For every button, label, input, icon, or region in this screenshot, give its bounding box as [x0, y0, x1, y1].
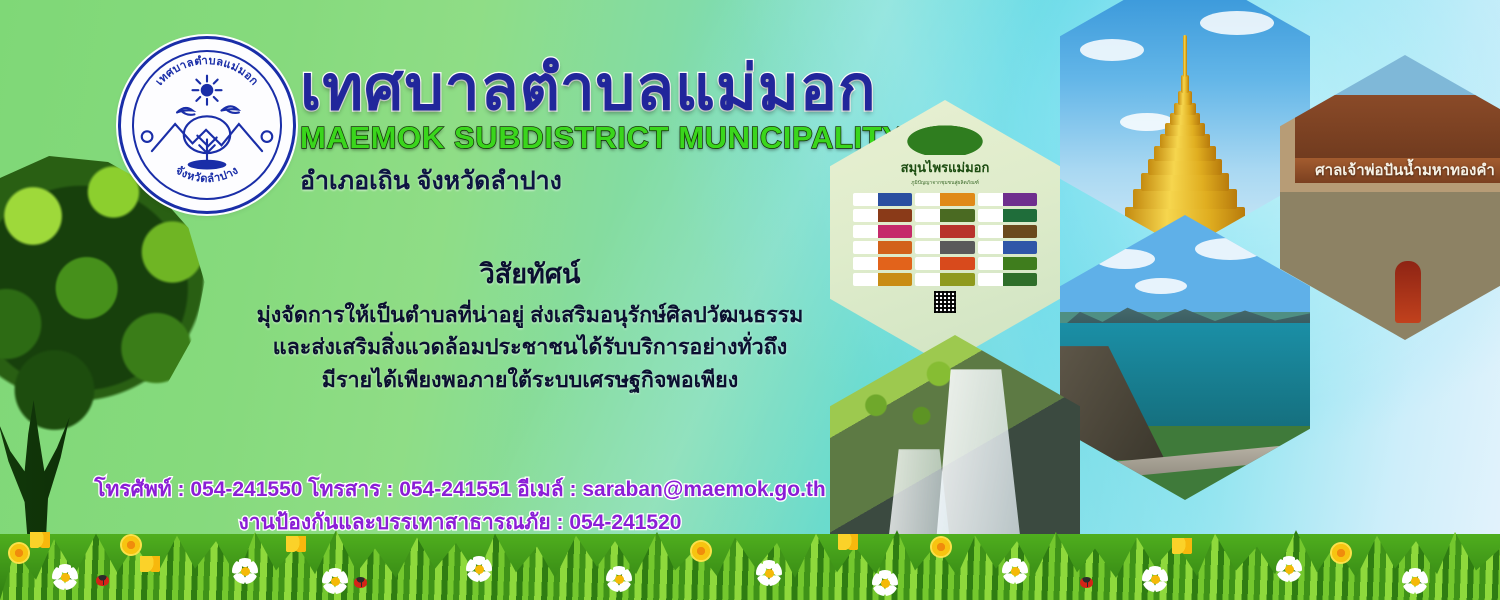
daisy-flower-icon — [322, 568, 348, 594]
butterfly-icon — [30, 532, 50, 548]
product-chip — [853, 273, 912, 286]
cloud-icon — [1135, 278, 1187, 294]
shrine-idol-icon — [1395, 261, 1421, 323]
ground-icon — [188, 160, 227, 170]
municipality-seal-logo: เทศบาลตำบลแม่มอก จังหวัดลำปาง — [118, 36, 296, 214]
seal-artwork: เทศบาลตำบลแม่มอก จังหวัดลำปาง — [121, 39, 293, 211]
product-chip — [978, 273, 1037, 286]
vision-heading: วิสัยทัศน์ — [190, 252, 870, 295]
photo-hex-reservoir-dam[interactable] — [1060, 215, 1310, 500]
grass-border — [0, 504, 1500, 600]
yellow-flower-icon — [8, 542, 30, 564]
product-chip — [853, 257, 912, 270]
butterfly-icon — [140, 556, 160, 572]
photo-hex-herbs-poster[interactable]: สมุนไพรแม่มอก ภูมิปัญญาจากชุมชนสู่ผลิตภั… — [830, 100, 1060, 365]
daisy-flower-icon — [606, 566, 632, 592]
daisy-flower-icon — [1002, 558, 1028, 584]
product-chip — [853, 225, 912, 238]
qr-code-icon[interactable] — [934, 291, 956, 313]
butterfly-icon — [1172, 538, 1192, 554]
daisy-flower-icon — [872, 570, 898, 596]
herb-product-grid — [853, 193, 1037, 286]
shrine-roof-icon — [1295, 95, 1500, 163]
ladybug-icon — [1080, 577, 1093, 588]
sun-icon — [201, 84, 214, 97]
herbs-poster-content: สมุนไพรแม่มอก ภูมิปัญญาจากชุมชนสู่ผลิตภั… — [853, 121, 1037, 344]
daisy-flower-icon — [232, 558, 258, 584]
product-chip — [915, 241, 974, 254]
cloud-icon — [1095, 249, 1155, 269]
product-chip — [978, 209, 1037, 222]
daisy-flower-icon — [1142, 566, 1168, 592]
product-chip — [915, 225, 974, 238]
tree-emblem-icon — [197, 136, 216, 163]
municipality-banner: เทศบาลตำบลแม่มอก จังหวัดลำปาง — [0, 0, 1500, 600]
product-chip — [915, 209, 974, 222]
reservoir-image — [1060, 215, 1310, 500]
vision-line-2: และส่งเสริมสิ่งแวดล้อมประชาชนได้รับบริกา… — [190, 331, 870, 363]
photo-hex-shrine[interactable]: ศาลเจ้าพ่อปันน้ำมหาทองคำ — [1280, 55, 1500, 340]
bird-right-icon — [221, 106, 238, 113]
product-chip — [915, 257, 974, 270]
product-chip — [978, 225, 1037, 238]
daisy-flower-icon — [52, 564, 78, 590]
daisy-flower-icon — [1276, 556, 1302, 582]
product-chip — [853, 193, 912, 206]
ladybug-icon — [354, 577, 367, 588]
daisy-flower-icon — [1402, 568, 1428, 594]
product-chip — [853, 241, 912, 254]
cloud-icon — [1195, 238, 1265, 260]
yellow-flower-icon — [120, 534, 142, 556]
golden-pagoda-image — [1060, 0, 1310, 250]
herbs-poster-subtitle: ภูมิปัญญาจากชุมชนสู่ผลิตภัณฑ์ — [853, 179, 1037, 187]
shrine-image: ศาลเจ้าพ่อปันน้ำมหาทองคำ — [1280, 55, 1500, 340]
photo-collage: สมุนไพรแม่มอก ภูมิปัญญาจากชุมชนสู่ผลิตภั… — [780, 0, 1500, 560]
vision-line-3: มีรายได้เพียงพอภายใต้ระบบเศรษฐกิจพอเพียง — [190, 364, 870, 396]
product-chip — [978, 241, 1037, 254]
seal-top-text: เทศบาลตำบลแม่มอก — [154, 54, 261, 88]
maemok-brand-logo-icon — [897, 121, 993, 155]
rosette-left-icon — [142, 131, 153, 142]
product-chip — [853, 209, 912, 222]
vision-block: วิสัยทัศน์ มุ่งจัดการให้เป็นตำบลที่น่าอย… — [190, 252, 870, 396]
butterfly-icon — [838, 534, 858, 550]
shrine-sign-text: ศาลเจ้าพ่อปันน้ำมหาทองคำ — [1295, 158, 1500, 184]
photo-hex-golden-pagoda[interactable]: วัดพ บ้านกุ่ — [1060, 0, 1310, 250]
daisy-flower-icon — [756, 560, 782, 586]
contact-line-phone-fax-email[interactable]: โทรศัพท์ : 054-241550 โทรสาร : 054-24155… — [60, 474, 860, 507]
yellow-flower-icon — [1330, 542, 1352, 564]
butterfly-icon — [286, 536, 306, 552]
pagoda-icon — [1125, 33, 1245, 233]
daisy-flower-icon — [466, 556, 492, 582]
vision-line-1: มุ่งจัดการให้เป็นตำบลที่น่าอยู่ ส่งเสริม… — [190, 299, 870, 331]
product-chip — [978, 193, 1037, 206]
ladybug-icon — [96, 575, 109, 586]
rosette-right-icon — [262, 131, 273, 142]
yellow-flower-icon — [930, 536, 952, 558]
bird-left-icon — [177, 108, 194, 115]
cloud-icon — [1200, 11, 1274, 35]
yellow-flower-icon — [690, 540, 712, 562]
product-chip — [915, 273, 974, 286]
product-chip — [915, 193, 974, 206]
herbs-poster-title: สมุนไพรแม่มอก — [853, 157, 1037, 178]
product-chip — [978, 257, 1037, 270]
